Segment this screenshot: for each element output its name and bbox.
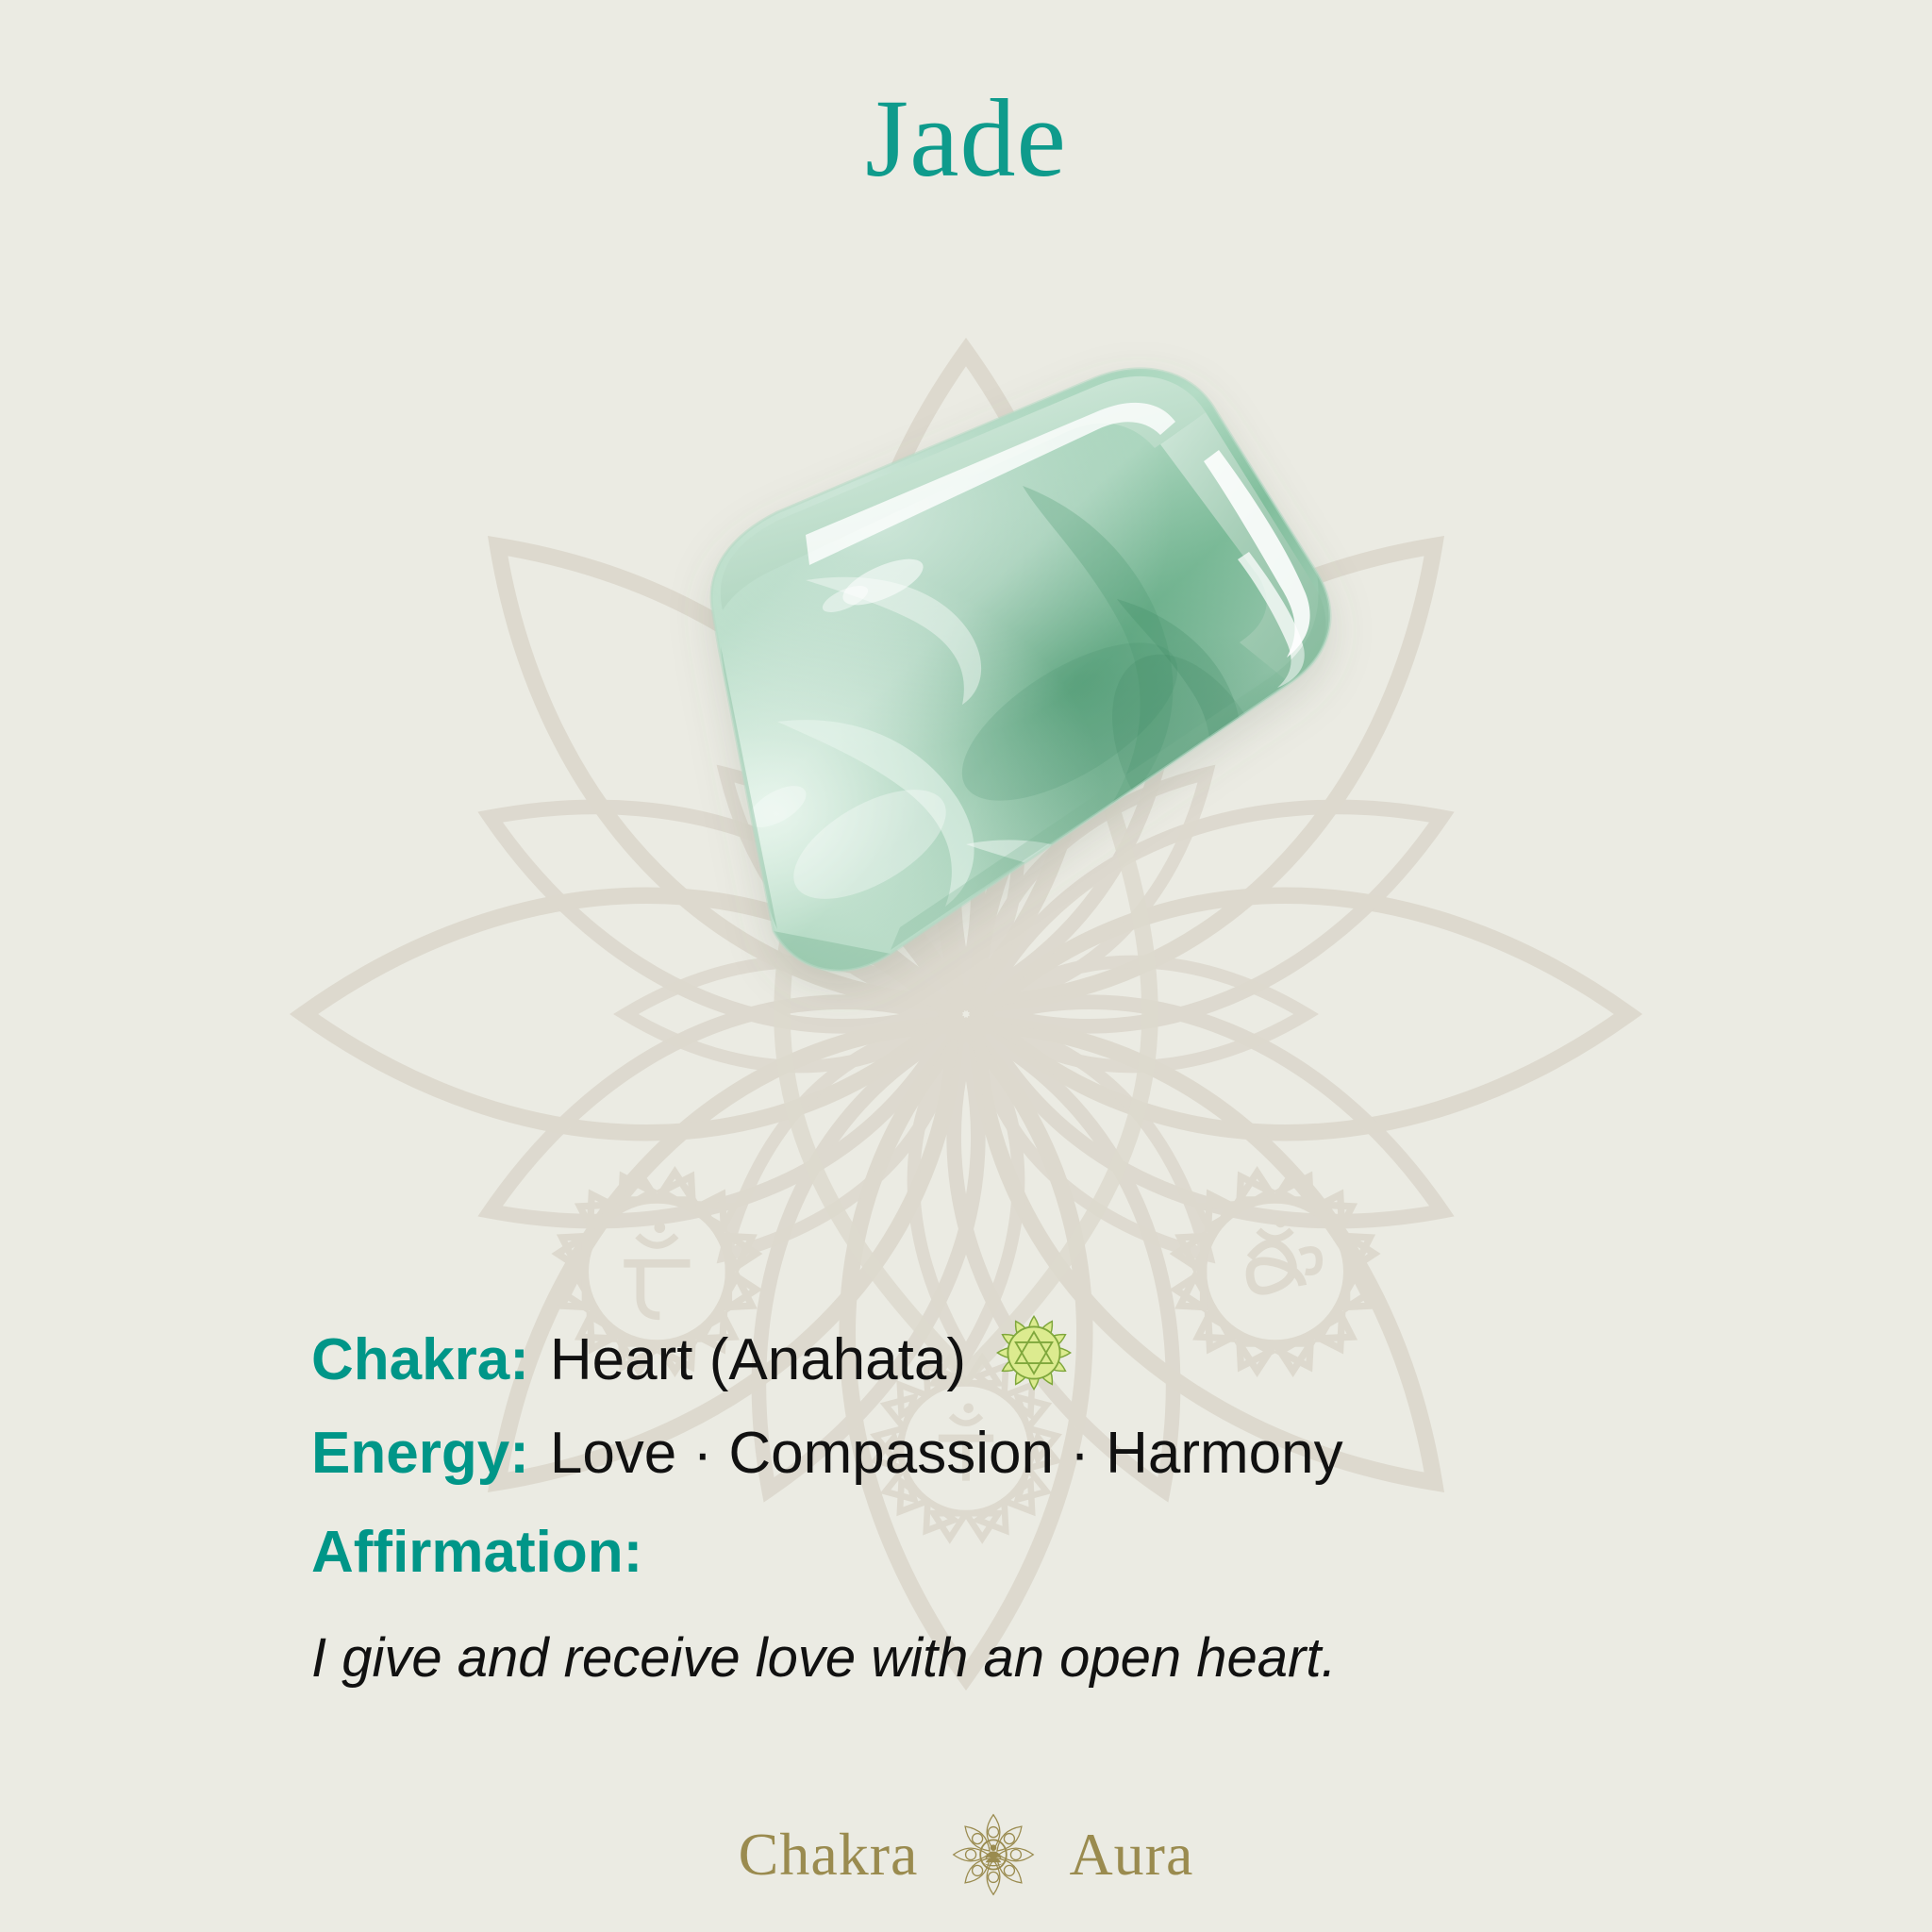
gemstone-info-card: Jade (0, 0, 1932, 1932)
brand-word-aura: Aura (1069, 1824, 1193, 1885)
brand-footer: Chakra (0, 1811, 1932, 1898)
chakra-label: Chakra: (311, 1329, 529, 1391)
anahata-chakra-symbol-icon (991, 1309, 1077, 1396)
energy-label: Energy: (311, 1423, 529, 1484)
energy-value: Love · Compassion · Harmony (550, 1423, 1343, 1484)
energy-row: Energy: Love · Compassion · Harmony (311, 1423, 1632, 1484)
brand-word-chakra: Chakra (739, 1824, 919, 1885)
affirmation-label: Affirmation: (311, 1522, 1632, 1583)
page-title: Jade (0, 83, 1932, 194)
chakra-row: Chakra: Heart (Anahata) (311, 1292, 1632, 1391)
gemstone-attributes: Chakra: Heart (Anahata) (311, 1292, 1632, 1689)
affirmation-text: I give and receive love with an open hea… (311, 1628, 1632, 1689)
gemstone-image (494, 316, 1438, 1071)
lotus-meditation-mandala-icon (950, 1811, 1037, 1898)
chakra-value: Heart (Anahata) (550, 1329, 966, 1391)
